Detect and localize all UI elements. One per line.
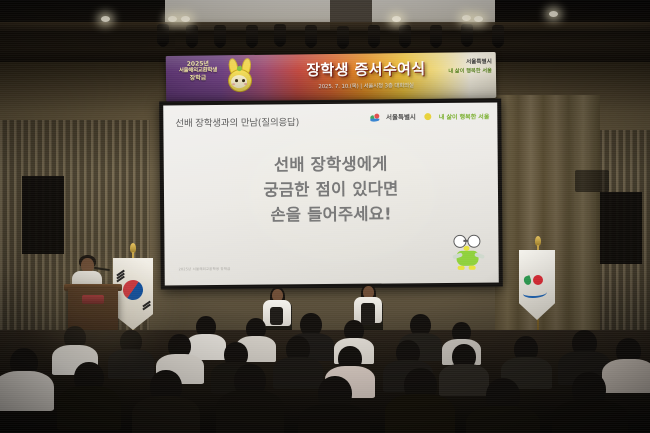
ceiling-downlight <box>462 15 471 21</box>
ceiling-downlight <box>101 16 110 22</box>
audience-member <box>466 406 540 433</box>
slide-body: 선배 장학생에게 궁금한 점이 있다면 손을 들어주세요! <box>164 151 499 229</box>
event-photo-scene: 2025년 서울해외교환학생 장학금 장학생 증서수여식 2025. 7. 10… <box>0 0 650 433</box>
panelist-right-apron <box>361 303 375 325</box>
stage-light <box>368 25 380 47</box>
stage-curtain <box>495 95 600 360</box>
ceiling-downlight <box>168 16 177 22</box>
seoul-logo-green-icon <box>523 275 532 286</box>
ceiling-downlight <box>392 16 401 22</box>
stage-light <box>305 25 317 47</box>
audience-member <box>132 396 200 433</box>
seoul-logo-blue-icon <box>523 288 547 298</box>
stage-light <box>492 25 504 47</box>
wall-dark-inset-right <box>596 192 642 264</box>
stage-light <box>337 26 349 48</box>
slide-logo-primary: 서울특별시 <box>386 111 416 121</box>
projection-screen: 선배 장학생과의 만남(질의응답) 서울특별시 내 삶이 행복한 서울 선배 장… <box>163 103 499 286</box>
slogan-symbol-icon <box>423 112 432 121</box>
event-banner: 2025년 서울해외교환학생 장학금 장학생 증서수여식 2025. 7. 10… <box>166 52 497 102</box>
wall-speaker-box <box>575 170 609 192</box>
panelist-left-vest <box>270 307 283 325</box>
stage-light <box>214 25 226 47</box>
banner-light-sheen <box>166 52 497 102</box>
slide-logo-secondary: 내 삶이 행복한 서울 <box>439 111 490 120</box>
slide-footer: 2025년 서울해외교환학생 장학금 <box>179 266 231 271</box>
stage-light <box>246 25 258 47</box>
slide-body-line-1: 선배 장학생에게 <box>164 151 498 179</box>
audience-member <box>0 371 54 411</box>
green-character-mascot-icon <box>452 235 486 277</box>
slide-logo-group: 서울특별시 내 삶이 행복한 서울 <box>370 111 489 122</box>
audience-member <box>298 404 370 433</box>
stage-light <box>461 24 473 46</box>
audience-member <box>439 364 489 396</box>
stage-light <box>186 25 198 47</box>
ceiling-downlight <box>181 16 190 22</box>
seoul-symbol-icon <box>370 112 379 121</box>
audience-member <box>216 390 284 433</box>
stage-light <box>274 24 286 46</box>
stage-light <box>399 25 411 47</box>
podium-emblem <box>82 295 104 304</box>
ceiling-lighting-truss <box>0 22 650 31</box>
ceiling-downlight <box>474 16 483 22</box>
audience-member <box>57 386 121 430</box>
stage-light <box>157 24 169 46</box>
projection-screen-frame: 선배 장학생과의 만남(질의응답) 서울특별시 내 삶이 행복한 서울 선배 장… <box>159 99 503 290</box>
wall-dark-inset-left <box>22 176 64 254</box>
slide-body-line-2: 궁금한 점이 있다면 <box>164 176 498 204</box>
audience-member <box>273 357 323 389</box>
taeguk-circle-icon <box>119 276 147 304</box>
audience-member <box>552 400 628 433</box>
seoul-logo-red-icon <box>533 275 543 285</box>
slide-header: 선배 장학생과의 만남(질의응답) <box>175 114 299 129</box>
stage-light <box>430 25 442 47</box>
audience-member <box>108 349 154 379</box>
slide-body-line-3: 손을 들어주세요! <box>164 201 498 229</box>
audience-member <box>602 359 650 393</box>
ceiling-downlight <box>549 11 558 17</box>
audience-member <box>385 394 455 433</box>
